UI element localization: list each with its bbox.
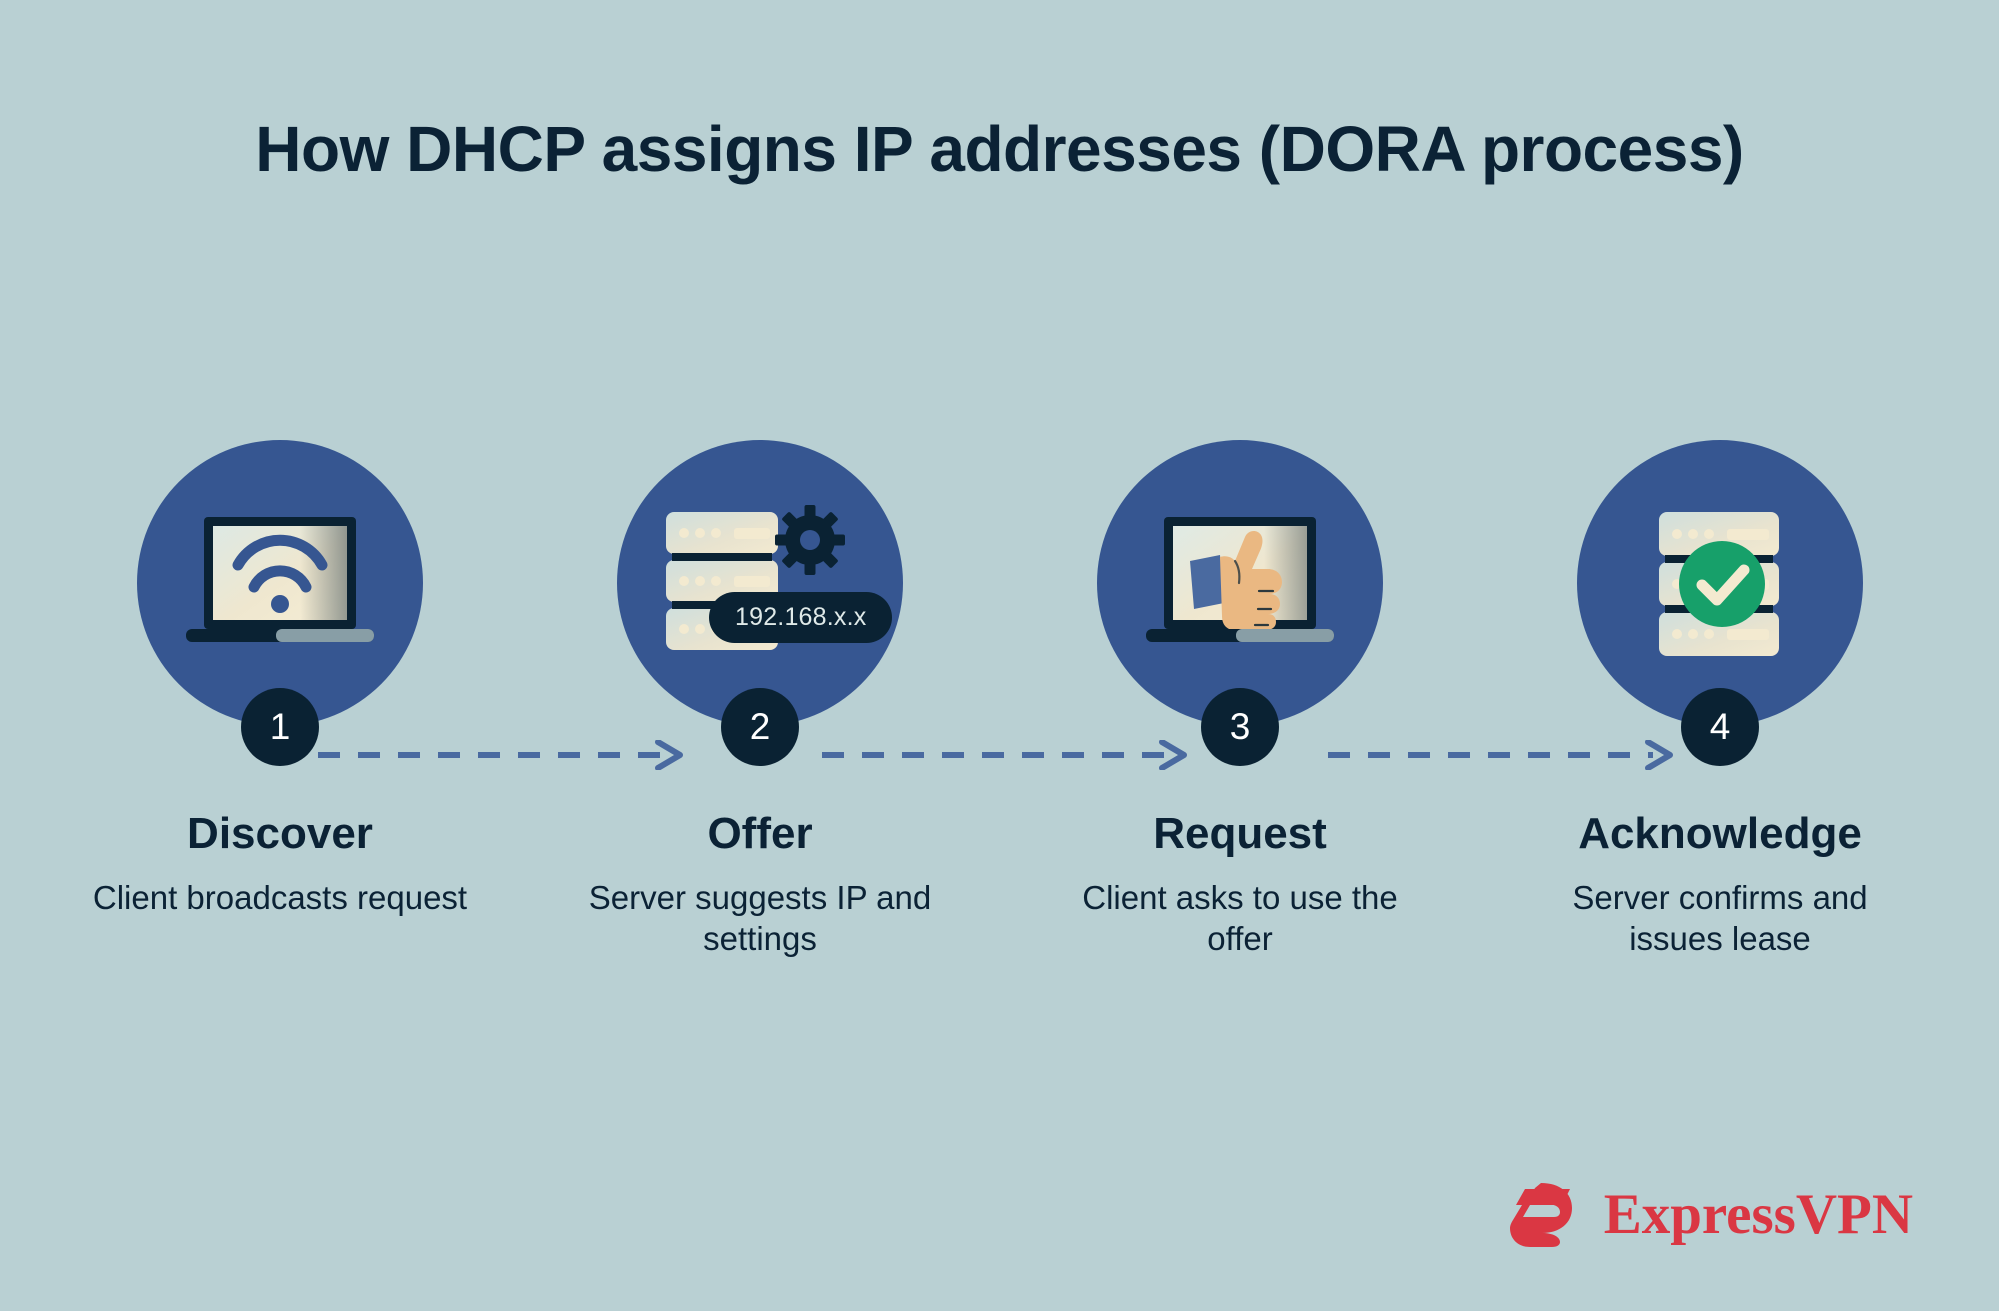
expressvpn-logo[interactable]: ExpressVPN	[1508, 1179, 1913, 1249]
step-request-desc: Client asks to use the offer	[1050, 878, 1430, 959]
page-title: How DHCP assigns IP addresses (DORA proc…	[0, 112, 1999, 186]
step-acknowledge-title: Acknowledge	[1578, 810, 1862, 858]
step-acknowledge: 4 Acknowledge Server confirms and issues…	[1500, 440, 1940, 959]
offer-ip-pill: 192.168.x.x	[709, 592, 892, 643]
step-discover-desc: Client broadcasts request	[93, 878, 467, 918]
server-check-icon	[1635, 498, 1805, 668]
laptop-wifi-icon	[180, 503, 380, 663]
step-discover: 1 Discover Client broadcasts request	[60, 440, 500, 919]
offer-ip-label: 192.168.x.x	[735, 603, 866, 631]
step-acknowledge-desc: Server confirms and issues lease	[1530, 878, 1910, 959]
step-offer-title: Offer	[707, 810, 812, 858]
step-offer-icon-circle: 192.168.x.x	[617, 440, 903, 726]
step-discover-title: Discover	[187, 810, 373, 858]
dora-steps-row: 1 Discover Client broadcasts request	[60, 440, 1940, 959]
step-request-icon-circle	[1097, 440, 1383, 726]
expressvpn-wordmark: ExpressVPN	[1604, 1186, 1913, 1243]
step-offer-number: 2	[721, 688, 799, 766]
step-request-title: Request	[1153, 810, 1327, 858]
step-request: 3 Request Client asks to use the offer	[1020, 440, 1460, 959]
step-offer-desc: Server suggests IP and settings	[570, 878, 950, 959]
step-discover-icon-circle	[137, 440, 423, 726]
step-offer: 192.168.x.x 2 Offer Server suggests IP a…	[540, 440, 980, 959]
step-acknowledge-number: 4	[1681, 688, 1759, 766]
expressvpn-mark-icon	[1508, 1179, 1586, 1249]
step-request-number: 3	[1201, 688, 1279, 766]
step-acknowledge-icon-circle	[1577, 440, 1863, 726]
step-discover-number: 1	[241, 688, 319, 766]
laptop-thumbsup-icon	[1140, 503, 1340, 663]
